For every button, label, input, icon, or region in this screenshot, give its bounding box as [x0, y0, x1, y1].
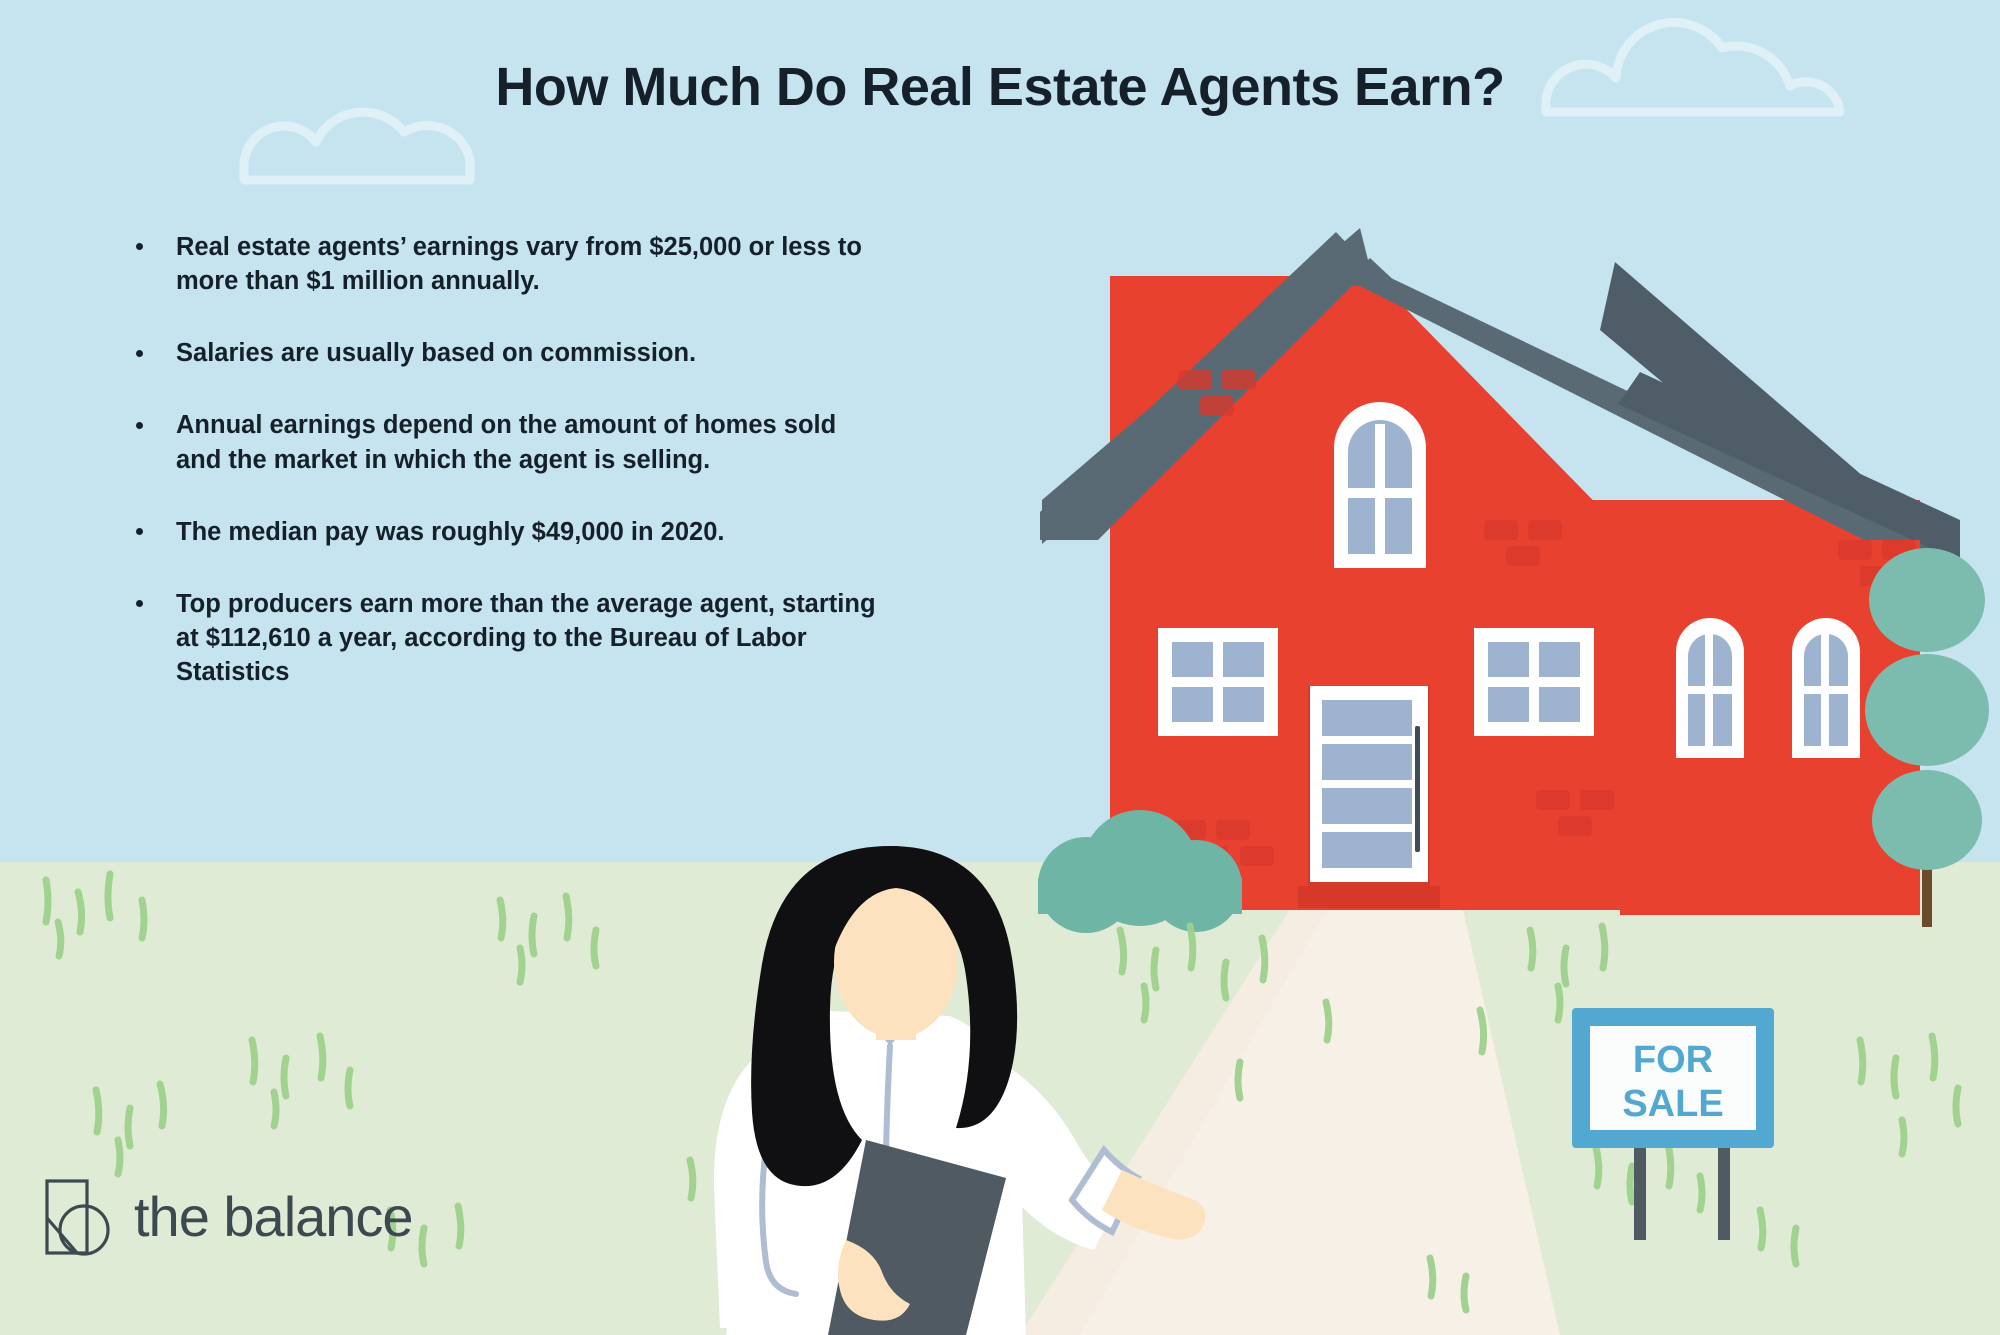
list-item: Salaries are usually based on commission… [128, 336, 888, 370]
window-right [1474, 628, 1594, 736]
list-item-text: The median pay was roughly $49,000 in 20… [176, 515, 888, 549]
door-step [1298, 886, 1440, 908]
brand-wordmark: the balance [134, 1189, 413, 1245]
bullet-dot-icon [136, 422, 143, 429]
list-item: The median pay was roughly $49,000 in 20… [128, 515, 888, 549]
key-facts-list: Real estate agents’ earnings vary from $… [128, 230, 888, 689]
brand-logo: the balance [44, 1178, 413, 1256]
bullet-dot-icon [136, 243, 143, 250]
list-item: Top producers earn more than the average… [128, 587, 888, 689]
window-arched-b [1792, 618, 1860, 758]
list-item: Real estate agents’ earnings vary from $… [128, 230, 888, 298]
for-sale-line1: FOR [1633, 1039, 1713, 1081]
window-left [1158, 628, 1278, 736]
bullet-dot-icon [136, 528, 143, 535]
agent-neck [876, 1016, 916, 1040]
bullet-dot-icon [136, 350, 143, 357]
for-sale-line2: SALE [1622, 1083, 1723, 1125]
list-item-text: Salaries are usually based on commission… [176, 336, 888, 370]
list-item-text: Top producers earn more than the average… [176, 587, 888, 689]
front-door [1308, 686, 1430, 886]
bullet-dot-icon [136, 600, 143, 607]
page-title: How Much Do Real Estate Agents Earn? [0, 58, 2000, 117]
balance-mark-icon [44, 1178, 112, 1256]
list-item: Annual earnings depend on the amount of … [128, 408, 888, 476]
attic-window [1334, 402, 1426, 568]
window-arched-a [1676, 618, 1744, 758]
list-item-text: Annual earnings depend on the amount of … [176, 408, 888, 476]
list-item-text: Real estate agents’ earnings vary from $… [176, 230, 888, 298]
infographic-canvas: FOR SALE [0, 0, 2000, 1335]
